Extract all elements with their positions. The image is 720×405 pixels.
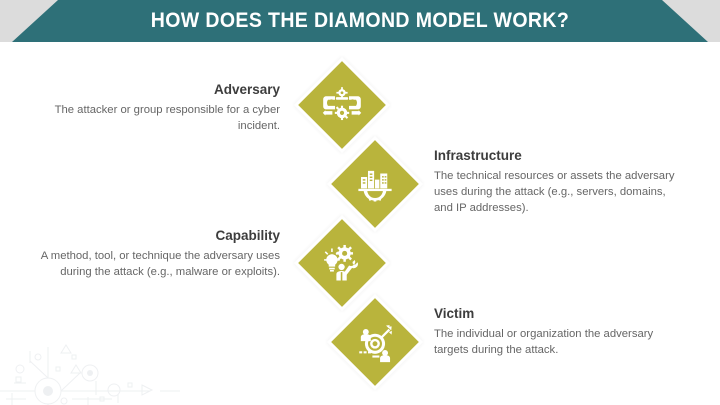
infrastructure-buildings-gear-icon (353, 162, 397, 206)
adversary-description: The attacker or group responsible for a … (30, 102, 280, 134)
capability-title: Capability (30, 228, 280, 245)
adversary-title: Adversary (30, 82, 280, 99)
diamond-capability[interactable] (298, 219, 386, 307)
circuit-board-decoration-icon (0, 343, 190, 405)
victim-description: The individual or organization the adver… (434, 326, 680, 358)
victim-title: Victim (434, 306, 680, 323)
diamond-infrastructure[interactable] (331, 140, 419, 228)
capability-bulb-gear-wrench-icon (320, 241, 364, 285)
slide-canvas: HOW DOES THE DIAMOND MODEL WORK? (0, 0, 720, 405)
header-banner: HOW DOES THE DIAMOND MODEL WORK? (0, 0, 720, 48)
diamond-adversary[interactable] (298, 61, 386, 149)
header-band: HOW DOES THE DIAMOND MODEL WORK? (0, 0, 720, 42)
infrastructure-description: The technical resources or assets the ad… (434, 168, 680, 216)
infrastructure-title: Infrastructure (434, 148, 680, 165)
victim-target-arrow-icon (353, 320, 397, 364)
diamond-victim[interactable] (331, 298, 419, 386)
text-block-infrastructure: Infrastructure The technical resources o… (434, 148, 680, 216)
adversary-heads-gears-icon (320, 83, 364, 127)
text-block-adversary: Adversary The attacker or group responsi… (30, 82, 280, 134)
text-block-victim: Victim The individual or organization th… (434, 306, 680, 358)
text-block-capability: Capability A method, tool, or technique … (30, 228, 280, 280)
page-title: HOW DOES THE DIAMOND MODEL WORK? (151, 9, 569, 34)
capability-description: A method, tool, or technique the adversa… (30, 248, 280, 280)
